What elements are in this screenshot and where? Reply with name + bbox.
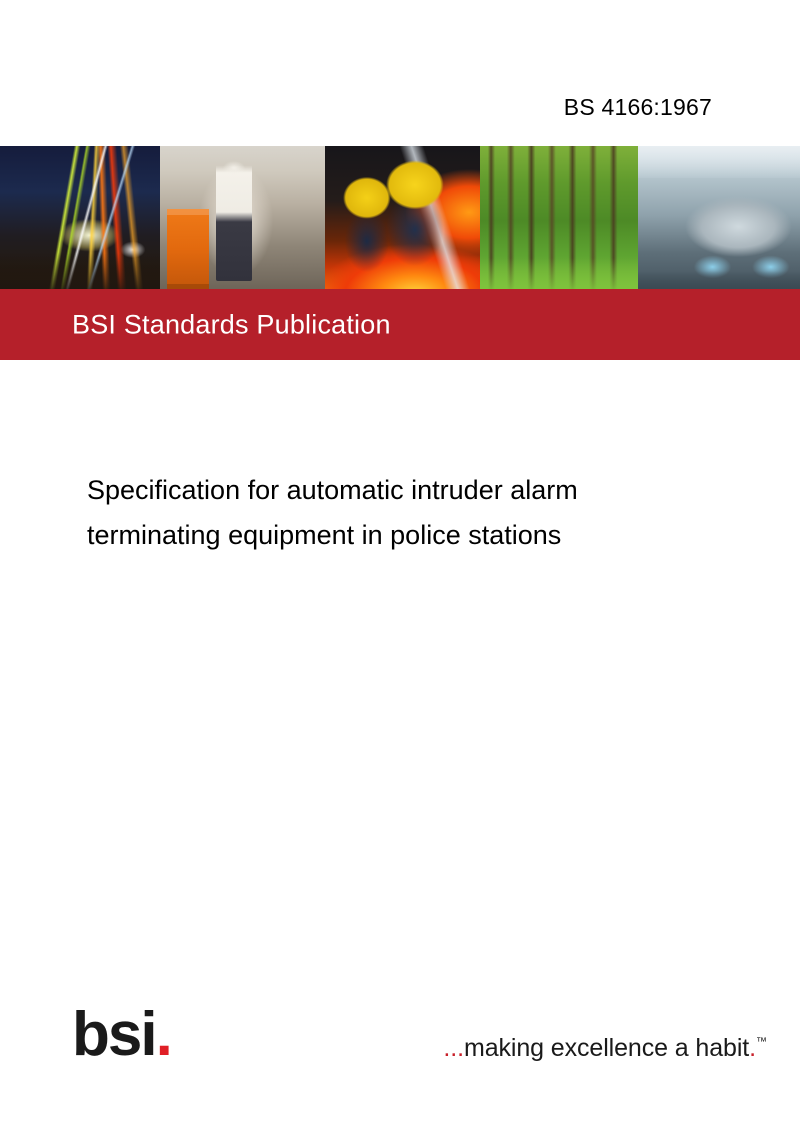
page-title-line-2: terminating equipment in police stations — [87, 513, 727, 558]
bsi-logo: bsi. — [72, 1004, 202, 1070]
cover-page: BS 4166:1967 BSI Standards Publication S… — [0, 0, 800, 1132]
page-title-line-1: Specification for automatic intruder ala… — [87, 468, 727, 513]
photo-panel-forest — [480, 146, 638, 290]
tagline-leading-ellipsis: ... — [443, 1034, 464, 1062]
photo-panel-firefighters — [325, 146, 480, 290]
photo-panel-traffic-light-trails — [0, 146, 160, 290]
trademark-symbol: ™ — [756, 1036, 767, 1048]
photo-panel-automotive-assembly — [638, 146, 800, 290]
page-title: Specification for automatic intruder ala… — [87, 468, 727, 558]
standard-number: BS 4166:1967 — [564, 94, 712, 121]
photo-panel-warehouse-worker — [160, 146, 325, 290]
tagline-text: making excellence a habit — [464, 1034, 749, 1062]
bsi-logo-dot: . — [156, 1000, 171, 1069]
banner-label: BSI Standards Publication — [72, 309, 391, 340]
bsi-standards-banner: BSI Standards Publication — [0, 289, 800, 360]
tagline-period: . — [749, 1034, 756, 1062]
photo-strip — [0, 146, 800, 290]
bsi-tagline: ...making excellence a habit.™ — [443, 1034, 767, 1063]
bsi-logo-wordmark: bsi — [72, 1000, 156, 1069]
